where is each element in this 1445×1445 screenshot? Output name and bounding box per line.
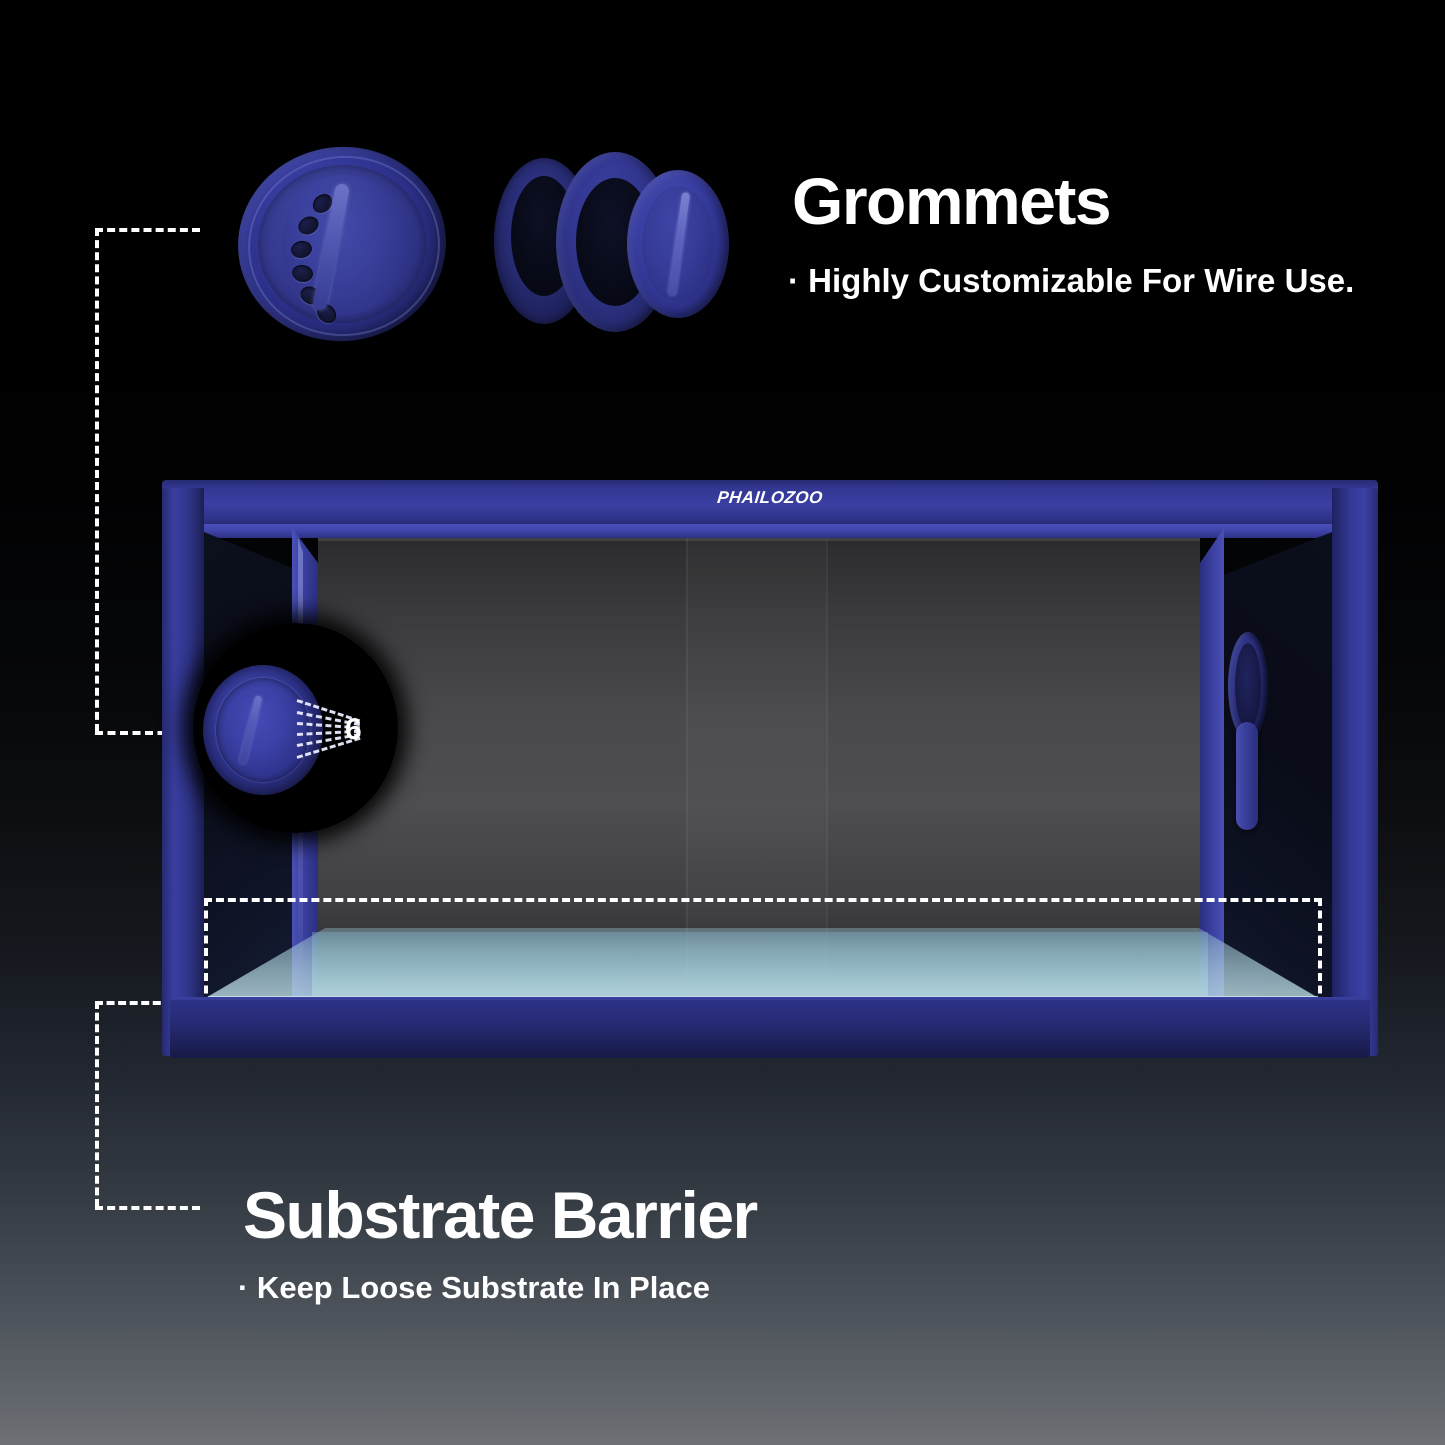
substrate-barrier-bullet: · Keep Loose Substrate In Place [238, 1270, 710, 1306]
callout-count-label: 6 [345, 713, 362, 747]
enclosure-door-handle [1236, 722, 1258, 830]
brand-logo: PHAILOZOO [161, 488, 1379, 508]
enclosure-left-post [162, 488, 204, 1056]
grommet-port-hole [1235, 643, 1261, 729]
grommet-cap-illustration [238, 147, 448, 343]
grommets-title: Grommets [792, 168, 1110, 234]
grommet-magnifier-callout: 6 [193, 623, 398, 833]
grommet-ring-stack-illustration [494, 152, 729, 332]
enclosure-base-rail [170, 1000, 1370, 1058]
leader-segment-vertical [95, 228, 99, 732]
grommets-bullet: · Highly Customizable For Wire Use. [788, 262, 1354, 300]
enclosure-right-post [1332, 488, 1378, 1056]
leader-segment-horizontal-bottom [95, 1206, 200, 1210]
substrate-barrier-title: Substrate Barrier [243, 1182, 757, 1248]
leader-segment-horizontal-top [95, 228, 200, 232]
enclosure-top-rail-lip [182, 524, 1362, 538]
substrate-barrier-outline [204, 898, 1322, 1006]
callout-grommet-body [203, 665, 323, 795]
leader-segment-vertical [95, 1001, 99, 1207]
callout-grommet-face [227, 689, 299, 771]
infographic-canvas: Grommets · Highly Customizable For Wire … [0, 0, 1445, 1445]
